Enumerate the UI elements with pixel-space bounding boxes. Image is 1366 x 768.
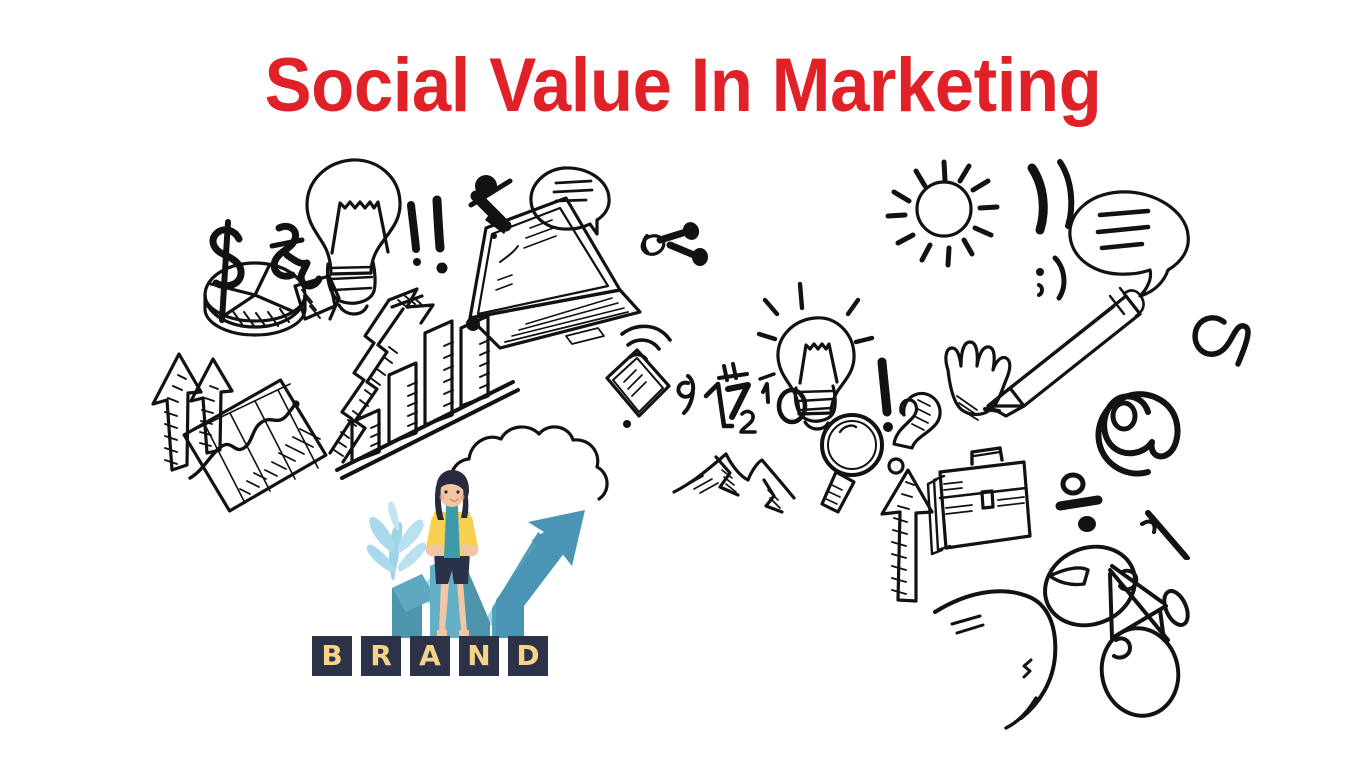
bar-chart-doodle bbox=[337, 316, 518, 478]
mountains-doodle bbox=[674, 454, 794, 512]
diagonal-strokes-doodle bbox=[1032, 162, 1071, 230]
brand-tile-n: N bbox=[459, 636, 499, 676]
road-curve-doodle bbox=[935, 591, 1055, 728]
dumbbell-doodle bbox=[640, 220, 708, 266]
bicycle-doodle bbox=[1033, 513, 1192, 723]
smartphone-wifi-doodle bbox=[607, 326, 670, 428]
wink-face-doodle bbox=[1036, 258, 1064, 298]
zigzag-arrow-doodle bbox=[330, 289, 433, 462]
percent-symbol-doodle bbox=[1060, 475, 1098, 532]
plant-decor bbox=[367, 502, 426, 580]
exclamation-marks-doodle bbox=[411, 200, 448, 274]
at-symbol-doodle bbox=[1098, 394, 1177, 473]
question-mark-doodle bbox=[889, 393, 940, 473]
pie-chart-doodle bbox=[205, 263, 339, 335]
pencil-doodle bbox=[985, 288, 1144, 416]
solid-up-arrow-doodle bbox=[882, 470, 932, 601]
microphone-doodle bbox=[471, 175, 511, 234]
brand-letter-tiles: B R A N D bbox=[312, 636, 548, 676]
brand-tile-d: D bbox=[508, 636, 548, 676]
currency-doodle bbox=[272, 226, 319, 286]
dollar-sign-doodle bbox=[213, 222, 241, 320]
lightbulb-doodle-right bbox=[759, 284, 872, 429]
exclamation-doodle-right bbox=[882, 362, 893, 432]
speech-bubble-doodle-left bbox=[531, 168, 609, 234]
hand-wave-doodle bbox=[946, 342, 1010, 420]
speech-bubble-doodle-right bbox=[1070, 192, 1188, 296]
up-arrows-doodle bbox=[153, 354, 232, 470]
poster-canvas: Social Value In Marketing bbox=[0, 0, 1366, 768]
brand-tile-r: R bbox=[361, 636, 401, 676]
numbers-doodle bbox=[678, 364, 805, 432]
lightbulb-doodle-left bbox=[307, 160, 400, 314]
sun-doodle bbox=[888, 162, 997, 265]
brand-tile-a: A bbox=[410, 636, 450, 676]
page-title: Social Value In Marketing bbox=[265, 46, 1102, 126]
briefcase-doodle bbox=[928, 448, 1030, 554]
growth-arrow bbox=[496, 510, 585, 638]
laptop-doodle bbox=[466, 198, 640, 348]
magnifier-doodle bbox=[822, 415, 882, 512]
brand-tile-b: B bbox=[312, 636, 352, 676]
title-container: Social Value In Marketing bbox=[0, 46, 1366, 126]
alpha-symbol-doodle bbox=[1195, 318, 1248, 364]
